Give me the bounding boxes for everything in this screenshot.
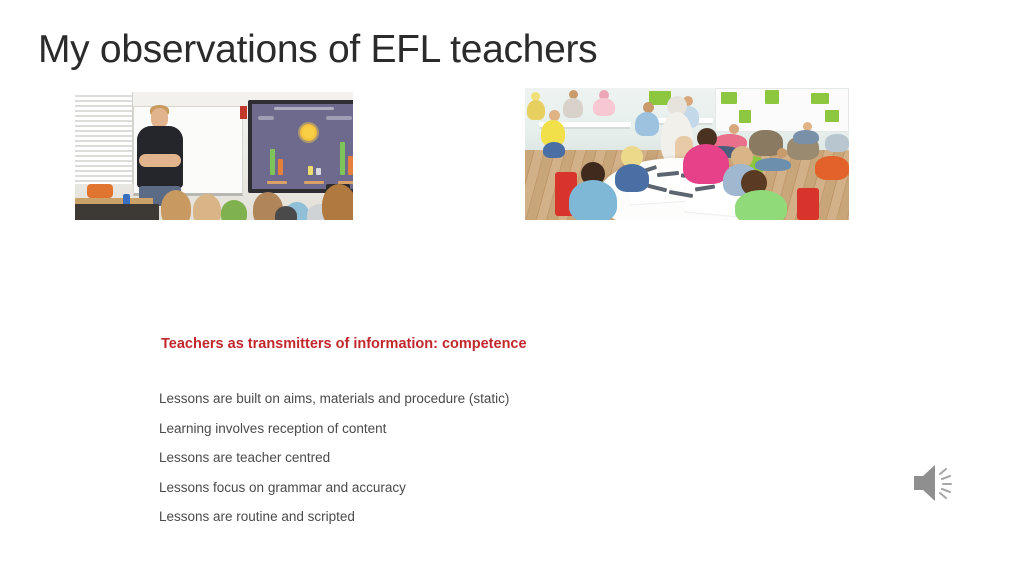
image-screen-bar [348,156,353,175]
collaborative-classroom-image [525,88,849,220]
image-screen-bar [316,168,321,175]
image-student [161,190,191,220]
image-screen-label [304,181,324,184]
right-column: Teachers as facilitators of discovery: p… [525,88,955,220]
image-screen-bar [308,166,313,175]
image-chair [797,188,819,220]
image-student [221,200,247,220]
image-student [322,184,353,220]
image-lounging-student [777,148,787,158]
left-column-list: Lessons are built on aims, materials and… [159,391,589,539]
list-item: Lessons focus on grammar and accuracy [159,480,589,495]
image-background-person [593,98,615,116]
image-student [569,180,617,220]
image-shelf-box [721,92,737,104]
image-screen-title-bar [274,107,334,110]
image-screen-tag [258,116,274,120]
image-teacher-head [151,108,168,128]
image-projector-screen [248,100,353,193]
image-shelf-box [811,93,829,104]
image-student [735,190,787,220]
image-screen-sun-graphic [300,124,317,141]
list-item: Lessons are routine and scripted [159,509,589,524]
speaker-icon[interactable] [908,458,960,508]
left-column-heading: Teachers as transmitters of information:… [161,337,561,352]
image-screen-label [267,181,287,184]
image-teacher-arms [139,154,181,167]
page-title: My observations of EFL teachers [38,27,597,73]
left-column: Teachers as transmitters of information:… [75,92,505,220]
list-item: Lessons are teacher centred [159,450,589,465]
image-beanbag [815,156,849,180]
image-beanbag [825,134,849,152]
image-background-person [527,100,545,120]
image-screen-bar [270,149,275,175]
image-lounging-student [793,130,819,144]
image-window-blinds [75,92,133,184]
image-student [615,164,649,192]
image-student [275,206,297,220]
image-shelf-box [765,90,779,104]
image-bag [87,184,113,198]
image-background-person [563,98,583,118]
image-shelf-box [739,110,751,123]
list-item: Lessons are built on aims, materials and… [159,391,589,406]
image-background-person [635,112,659,136]
speaker-icon-glyph [908,458,960,508]
image-screen-content [252,104,353,189]
slide-canvas: My observations of EFL teachers [0,0,1024,576]
image-screen-bar [278,159,283,175]
classroom-transmitter-image [75,92,353,220]
image-screen-tag [326,116,352,120]
list-item: Learning involves reception of content [159,421,589,436]
image-shelf-box [825,110,839,122]
image-background-person [543,142,565,158]
image-desk-front [75,204,159,220]
image-lounging-student [729,124,739,134]
image-lounging-student [755,158,791,171]
image-wall-fixture [240,106,247,119]
image-screen-bar [340,142,345,175]
image-student [193,194,221,220]
